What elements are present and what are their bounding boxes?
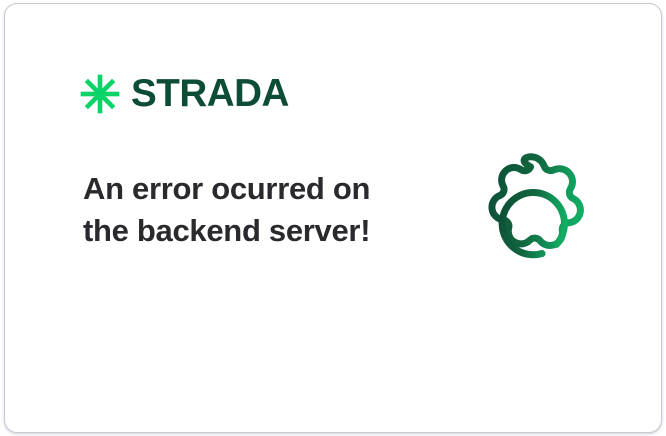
error-card: STRADA An error ocurred on the backend s… — [4, 3, 662, 433]
brand-lockup: STRADA — [79, 72, 291, 116]
strada-asterisk-icon — [79, 73, 121, 115]
gear-cog-icon — [449, 142, 613, 306]
error-message: An error ocurred on the backend server! — [83, 168, 383, 252]
brand-wordmark: STRADA — [131, 74, 289, 115]
error-page: STRADA An error ocurred on the backend s… — [0, 0, 666, 436]
